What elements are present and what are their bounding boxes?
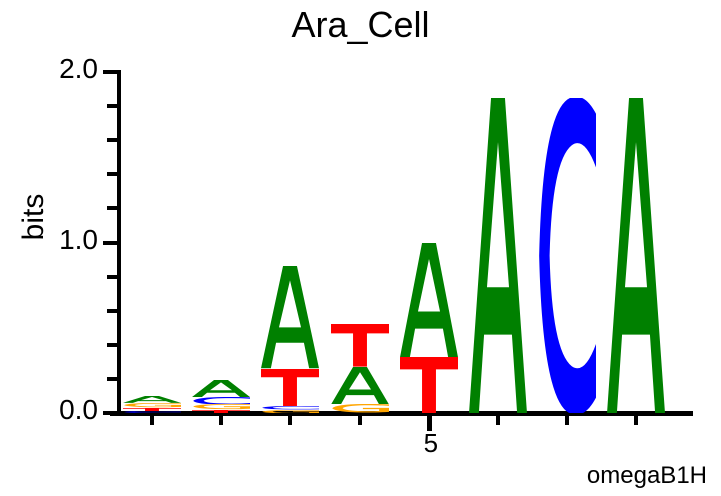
x-tick-6 [496, 416, 500, 425]
logo-letter-T-pos4 [331, 324, 389, 367]
logo-letter-A-pos1 [123, 396, 181, 403]
y-tick-label: 0.0 [20, 394, 98, 426]
x-axis-line [110, 411, 693, 416]
logo-letter-T-pos5 [400, 357, 458, 413]
logo-letter-C-pos3 [261, 406, 319, 409]
logo-letter-C-pos2 [192, 397, 250, 405]
y-tick-major [103, 241, 121, 245]
y-tick-minor [107, 275, 121, 279]
y-tick-minor [107, 343, 121, 347]
logo-stack-7 [538, 98, 596, 413]
y-tick-label: 2.0 [20, 53, 98, 85]
logo-letter-A-pos3 [261, 266, 319, 368]
x-tick-2 [219, 416, 223, 425]
fineprint-label: omegaB1H [587, 462, 707, 490]
x-tick-label-5: 5 [411, 428, 451, 459]
x-tick-7 [565, 416, 569, 425]
logo-letter-A-pos4 [331, 367, 389, 405]
logo-letter-A-pos2 [192, 380, 250, 397]
y-axis-label: bits [17, 157, 51, 277]
y-tick-minor [107, 309, 121, 313]
y-tick-minor [107, 138, 121, 142]
logo-stack-8 [607, 98, 665, 413]
logo-stack-2 [192, 380, 250, 413]
x-tick-3 [288, 416, 292, 425]
logo-stack-6 [469, 98, 527, 413]
y-tick-minor [107, 172, 121, 176]
x-tick-1 [150, 416, 154, 425]
y-tick-minor [107, 377, 121, 381]
logo-letter-G-pos1 [123, 403, 181, 407]
y-tick-minor [107, 104, 121, 108]
logo-letter-G-pos2 [192, 404, 250, 409]
logo-letter-T-pos3 [261, 369, 319, 407]
logo-stack-3 [261, 266, 319, 413]
y-tick-minor [107, 206, 121, 210]
logo-letter-A-pos6 [469, 98, 527, 413]
logo-letter-C-pos7 [538, 98, 596, 413]
logo-letter-A-pos8 [607, 98, 665, 413]
x-tick-4 [358, 416, 362, 425]
logo-stack-5 [400, 243, 458, 414]
y-tick-label: 1.0 [20, 224, 98, 256]
sequence-logo: Ara_Cell bits 0.01.02.0 5 omegaB1H [0, 0, 721, 496]
x-tick-8 [634, 416, 638, 425]
logo-letter-A-pos5 [400, 243, 458, 357]
y-tick-major [103, 70, 121, 74]
logo-stack-4 [331, 324, 389, 413]
page-title: Ara_Cell [0, 4, 721, 46]
